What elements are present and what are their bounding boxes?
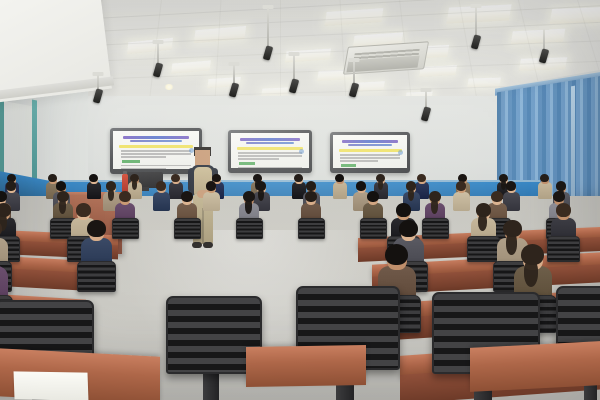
hanging-speaker bbox=[470, 4, 482, 50]
desk bbox=[246, 345, 366, 387]
audience-hair bbox=[119, 191, 131, 203]
pendant-speaker-body bbox=[93, 88, 104, 103]
audience-ponytail bbox=[408, 189, 414, 201]
chair[interactable] bbox=[174, 218, 201, 239]
pendant-rod bbox=[353, 61, 355, 85]
pendant-speaker-body bbox=[229, 82, 240, 97]
hanging-speaker bbox=[348, 58, 360, 98]
audience-member bbox=[86, 173, 102, 197]
hanging-speaker bbox=[228, 62, 240, 98]
audience-ponytail bbox=[245, 199, 253, 213]
audience-hair bbox=[87, 220, 105, 237]
hanging-speaker bbox=[420, 88, 432, 122]
audience-torso bbox=[203, 192, 220, 211]
audience-member bbox=[332, 173, 348, 197]
chair[interactable] bbox=[422, 218, 449, 239]
paper-sheet bbox=[14, 371, 89, 400]
audience-torso bbox=[453, 192, 470, 211]
pendant-speaker-body bbox=[349, 82, 360, 97]
hanging-speaker bbox=[92, 72, 104, 104]
audience-hair bbox=[556, 203, 571, 217]
audience-member bbox=[202, 180, 221, 209]
hanging-speaker bbox=[262, 5, 274, 61]
audience-hair bbox=[89, 174, 98, 182]
audience-hair bbox=[171, 174, 180, 182]
audience-hair bbox=[181, 191, 193, 203]
audience-ponytail bbox=[431, 199, 439, 213]
lecture-hall-photo bbox=[0, 0, 600, 400]
chair[interactable] bbox=[360, 218, 387, 239]
audience-hair bbox=[76, 203, 91, 217]
pendant-speaker-body bbox=[263, 45, 274, 60]
chair[interactable] bbox=[467, 236, 500, 261]
audience-hair bbox=[399, 220, 417, 237]
chair[interactable] bbox=[77, 261, 116, 292]
audience-ponytail bbox=[108, 189, 114, 201]
audience-torso bbox=[153, 192, 170, 211]
audience-hair bbox=[305, 191, 317, 203]
audience-torso bbox=[87, 182, 101, 198]
chair[interactable] bbox=[112, 218, 139, 239]
desk bbox=[470, 340, 600, 392]
pendant-rod bbox=[475, 7, 477, 37]
chair[interactable] bbox=[236, 218, 263, 239]
pendant-speaker-body bbox=[421, 106, 432, 121]
audience-member bbox=[452, 180, 471, 209]
pendant-rod bbox=[267, 8, 269, 48]
hanging-speaker bbox=[538, 26, 550, 64]
audience-hair bbox=[335, 174, 344, 182]
audience-member bbox=[152, 180, 171, 209]
pendant-speaker-body bbox=[289, 78, 300, 93]
chair[interactable] bbox=[298, 218, 325, 239]
audience-hair bbox=[540, 174, 549, 182]
pendant-speaker-body bbox=[539, 48, 550, 63]
pendant-speaker-body bbox=[153, 62, 164, 77]
hanging-speaker bbox=[288, 52, 300, 94]
audience-torso bbox=[333, 182, 347, 198]
pendant-speaker-body bbox=[471, 34, 482, 49]
audience-hair bbox=[367, 191, 379, 203]
hanging-speaker bbox=[152, 40, 164, 78]
audience-hair bbox=[396, 203, 411, 217]
audience-hair bbox=[385, 244, 408, 266]
audience-hair bbox=[0, 220, 2, 237]
pendant-rod bbox=[293, 55, 295, 81]
audience-ponytail bbox=[59, 199, 67, 213]
